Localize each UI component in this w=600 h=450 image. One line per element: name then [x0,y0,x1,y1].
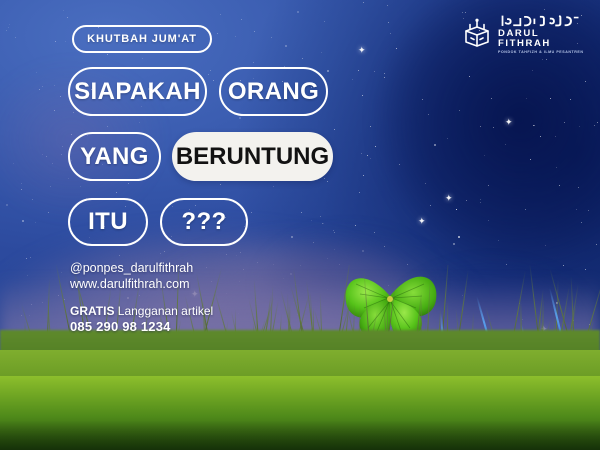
brand-arabic-name [498,13,584,28]
ground-shadow [0,420,600,450]
offer-rest-label: Langganan artikel [114,304,213,318]
brand-tagline: PONDOK TAHFIZH & ILMU PESANTREN [498,50,583,55]
headline-pill-question: ??? [160,198,248,246]
sparkle-icon: ✦ [505,118,513,127]
instagram-handle: @ponpes_darulfithrah [70,260,213,276]
headline-pill-yang: YANG [68,132,161,181]
headline-pill-orang: ORANG [219,67,328,116]
headline-pill-siapakah: SIAPAKAH [68,67,207,116]
sparkle-icon: ✦ [358,46,366,55]
headline-pill-beruntung: BERUNTUNG [172,132,333,181]
subscription-offer: GRATIS Langganan artikel 085 290 98 1234 [70,304,213,334]
sparkle-icon: ✦ [445,194,453,203]
khutbah-badge: KHUTBAH JUM'AT [72,25,212,53]
brand-logo: DARUL FITHRAH PONDOK TAHFIZH & ILMU PESA… [462,12,590,56]
book-lamp-emblem-icon [462,18,492,50]
phone-number: 085 290 98 1234 [70,319,213,334]
offer-gratis-label: GRATIS [70,304,114,318]
headline-pill-itu: ITU [68,198,148,246]
contact-block: @ponpes_darulfithrah www.darulfithrah.co… [70,260,213,334]
website-url: www.darulfithrah.com [70,276,213,292]
brand-name: DARUL FITHRAH [498,29,590,49]
brand-logo-text: DARUL FITHRAH PONDOK TAHFIZH & ILMU PESA… [498,13,590,56]
poster-canvas: ✦✦✦✦✦✦ [0,0,600,450]
